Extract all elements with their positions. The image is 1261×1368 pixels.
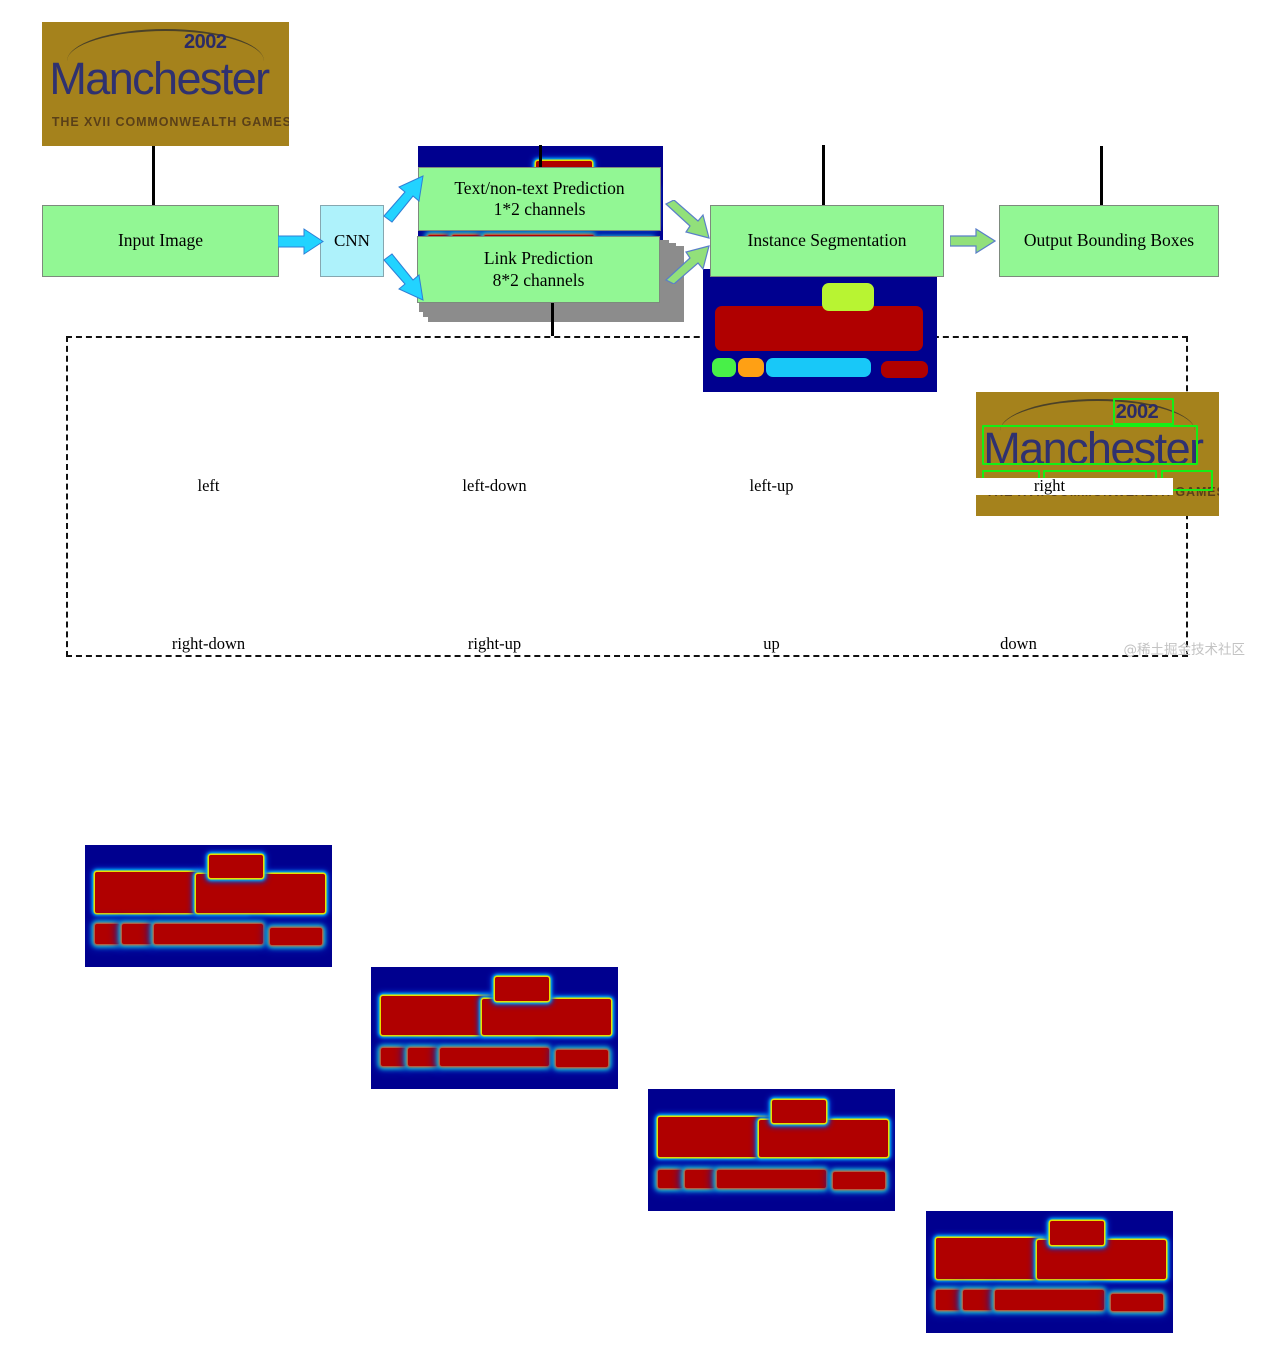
box-link-prediction-label-line2: 8*2 channels: [493, 270, 585, 291]
box-output-bounding-boxes[interactable]: Output Bounding Boxes: [999, 205, 1219, 277]
figure-canvas: 2002 Manchester THE XVII COMMONWEALTH GA…: [0, 0, 1261, 684]
sign-year-text: 2002: [184, 31, 227, 54]
connector-output-boxes: [1100, 146, 1103, 205]
caption-right: right: [926, 478, 1173, 495]
instance-region: [738, 358, 764, 378]
bbox-manchester: [982, 425, 1198, 465]
box-cnn[interactable]: CNN: [320, 205, 384, 277]
box-text-prediction[interactable]: Text/non-text Prediction 1*2 channels: [418, 167, 661, 231]
arrow-input-to-cnn: [278, 228, 324, 255]
link-map-left: [85, 845, 332, 967]
instance-region: [712, 358, 735, 378]
caption-left-down: left-down: [371, 478, 618, 495]
caption-right-down: right-down: [85, 636, 332, 653]
box-instance-segmentation-label: Instance Segmentation: [748, 230, 907, 251]
input-image-thumbnail: 2002 Manchester THE XVII COMMONWEALTH GA…: [42, 22, 289, 146]
box-output-bounding-boxes-label: Output Bounding Boxes: [1024, 230, 1194, 251]
box-text-prediction-label-line2: 1*2 channels: [494, 199, 586, 220]
connector-link-pred-down: [551, 303, 554, 336]
sign-name-text: Manchester: [49, 53, 268, 105]
caption-up: up: [648, 636, 895, 653]
instance-region: [881, 361, 928, 378]
arrow-link-prediction-to-instance-segmentation: [664, 240, 712, 284]
watermark-text: @稀土掘金技术社区: [1124, 638, 1246, 658]
connector-text-pred: [539, 145, 542, 167]
box-instance-segmentation[interactable]: Instance Segmentation: [710, 205, 944, 277]
box-link-prediction[interactable]: Link Prediction 8*2 channels: [417, 236, 660, 303]
sign-subtitle-text: THE XVII COMMONWEALTH GAMES: [52, 115, 289, 129]
link-map-right: [926, 1211, 1173, 1333]
instance-region: [822, 283, 873, 311]
bbox-2002: [1113, 398, 1174, 425]
box-text-prediction-label-line1: Text/non-text Prediction: [454, 178, 624, 199]
link-map-left-down: [371, 967, 618, 1089]
link-map-left-up: [648, 1089, 895, 1211]
connector-input-image: [152, 146, 155, 205]
caption-left-up: left-up: [648, 478, 895, 495]
box-link-prediction-label-line1: Link Prediction: [484, 248, 593, 269]
instance-region: [766, 358, 871, 378]
arrow-cnn-to-text-prediction: [382, 172, 426, 224]
instance-region: [715, 306, 923, 352]
box-input-image[interactable]: Input Image: [42, 205, 279, 277]
instance-segmentation-map: [703, 269, 937, 392]
connector-instance-seg: [822, 145, 825, 205]
caption-left: left: [85, 478, 332, 495]
box-cnn-label: CNN: [334, 231, 370, 252]
caption-down: down: [926, 636, 1111, 653]
arrow-text-prediction-to-instance-segmentation: [664, 200, 712, 244]
arrow-instance-segmentation-to-output: [950, 228, 996, 254]
box-input-image-label: Input Image: [118, 230, 203, 251]
caption-right-up: right-up: [371, 636, 618, 653]
output-bounding-boxes-thumbnail: 2002 Manchester THE XVII COMMONWEALTH GA…: [976, 392, 1219, 516]
arrow-cnn-to-link-prediction: [382, 252, 426, 304]
